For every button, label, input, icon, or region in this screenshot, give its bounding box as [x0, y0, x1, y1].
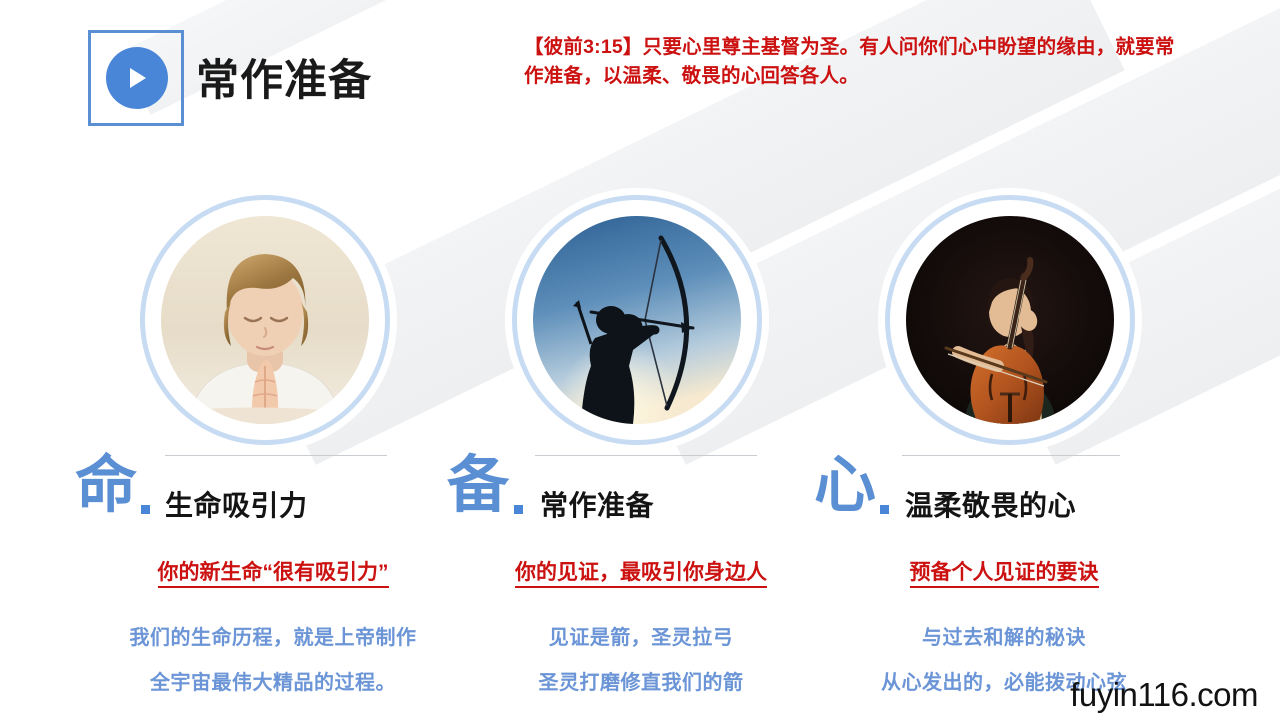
column-heart: 心 温柔敬畏的心 预备个人见证的要诀 与过去和解的秘诀 从心发出的，必能拨动心弦 [800, 0, 1200, 720]
heading-rule [165, 455, 387, 456]
photo-image [533, 216, 741, 424]
slide-canvas: 常作准备 【彼前3:15】只要心里尊主基督为圣。有人问你们心中盼望的缘由，就要常… [0, 0, 1280, 720]
column-body-line: 我们的生命历程，就是上帝制作 [73, 621, 473, 650]
column-life: 命 生命吸引力 你的新生命“很有吸引力” 我们的生命历程，就是上帝制作 全宇宙最… [55, 0, 455, 720]
photo-cellist [885, 195, 1135, 445]
column-key-character: 命 [75, 455, 137, 517]
column-preparation: 备 常作准备 你的见证，最吸引你身边人 见证是箭，圣灵拉弓 圣灵打磨修直我们的箭 [427, 0, 827, 720]
column-key-character: 心 [814, 455, 876, 517]
column-subheading: 生命吸引力 [165, 484, 308, 524]
heading-rule [535, 455, 757, 456]
column-key-character: 备 [447, 455, 509, 517]
square-bullet-icon [514, 505, 523, 514]
square-bullet-icon [880, 505, 889, 514]
heading-rule [902, 455, 1120, 456]
column-body-line: 见证是箭，圣灵拉弓 [441, 621, 841, 650]
column-highlight-text: 预备个人见证的要诀 [910, 561, 1099, 588]
photo-image [906, 216, 1114, 424]
column-highlight-text: 你的见证，最吸引你身边人 [515, 561, 767, 588]
square-bullet-icon [141, 505, 150, 514]
column-highlight-text: 你的新生命“很有吸引力” [158, 561, 389, 588]
column-body-line: 全宇宙最伟大精品的过程。 [73, 666, 473, 695]
content-columns: 命 生命吸引力 你的新生命“很有吸引力” 我们的生命历程，就是上帝制作 全宇宙最… [0, 0, 1280, 720]
column-subheading: 常作准备 [540, 484, 654, 524]
column-highlight: 预备个人见证的要诀 [804, 556, 1204, 586]
photo-archer [512, 195, 762, 445]
photo-image [161, 216, 369, 424]
site-watermark: fuyin116.com [1070, 676, 1258, 714]
column-highlight: 你的新生命“很有吸引力” [73, 556, 473, 586]
column-subheading: 温柔敬畏的心 [905, 484, 1076, 524]
column-body-line: 与过去和解的秘诀 [804, 621, 1204, 650]
column-highlight: 你的见证，最吸引你身边人 [441, 556, 841, 586]
column-body-line: 圣灵打磨修直我们的箭 [441, 666, 841, 695]
photo-child-praying [140, 195, 390, 445]
